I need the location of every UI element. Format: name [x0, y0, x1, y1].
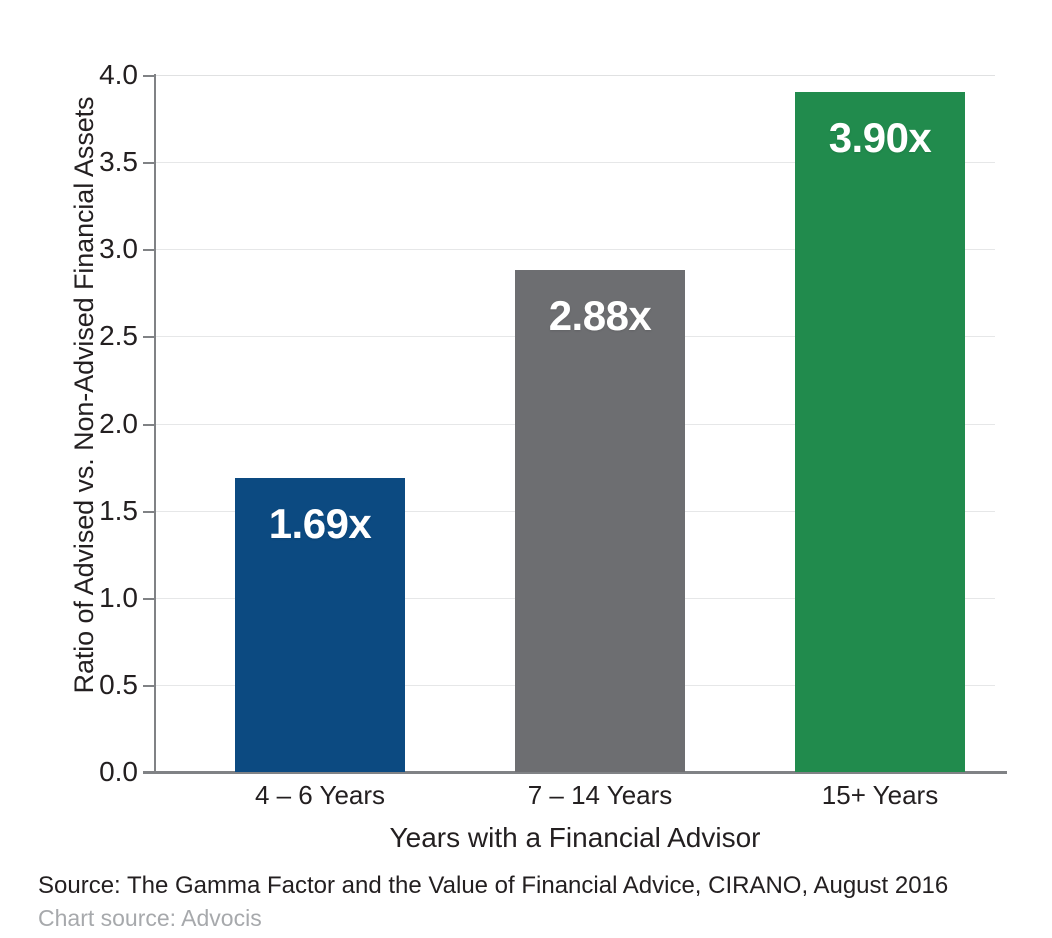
x-axis-tick-label: 7 – 14 Years	[475, 780, 725, 811]
x-axis-tick-labels: 4 – 6 Years7 – 14 Years15+ Years	[155, 780, 995, 822]
bar-value-label: 3.90x	[795, 114, 965, 162]
y-axis-tick-label: 0.0	[58, 756, 138, 788]
y-axis-tick	[143, 75, 156, 77]
gridline	[155, 75, 995, 76]
bar-value-label: 2.88x	[515, 292, 685, 340]
y-axis-tick	[143, 249, 156, 251]
y-axis-tick	[143, 685, 156, 687]
y-axis-tick-label: 3.0	[58, 233, 138, 265]
y-axis-tick	[143, 162, 156, 164]
y-axis-tick-label: 1.5	[58, 495, 138, 527]
y-axis-tick-label: 3.5	[58, 146, 138, 178]
y-axis-tick-label: 2.0	[58, 408, 138, 440]
footer: Source: The Gamma Factor and the Value o…	[38, 872, 1038, 933]
bar: 3.90x	[795, 92, 965, 772]
y-axis-tick	[143, 424, 156, 426]
y-axis-tick	[143, 772, 156, 774]
bar-value-label: 1.69x	[235, 500, 405, 548]
x-axis-tick-label: 15+ Years	[755, 780, 1005, 811]
plot-area: 1.69x2.88x3.90x	[155, 75, 995, 772]
y-axis-tick	[143, 336, 156, 338]
source-note: Source: The Gamma Factor and the Value o…	[38, 872, 1038, 901]
y-axis-tick-labels: 0.00.51.01.52.02.53.03.54.0	[20, 0, 138, 938]
x-axis-tick-label: 4 – 6 Years	[195, 780, 445, 811]
x-axis-title: Years with a Financial Advisor	[155, 822, 995, 854]
bar-chart-figure: Ratio of Advised vs. Non-Advised Financi…	[0, 0, 1052, 938]
y-axis-tick	[143, 598, 156, 600]
y-axis-tick-label: 4.0	[58, 59, 138, 91]
y-axis-tick-label: 1.0	[58, 582, 138, 614]
chart-source-note: Chart source: Advocis	[38, 904, 1038, 933]
y-axis-tick-label: 2.5	[58, 320, 138, 352]
bar: 2.88x	[515, 270, 685, 772]
bar: 1.69x	[235, 478, 405, 772]
y-axis-tick	[143, 511, 156, 513]
y-axis-tick-label: 0.5	[58, 669, 138, 701]
